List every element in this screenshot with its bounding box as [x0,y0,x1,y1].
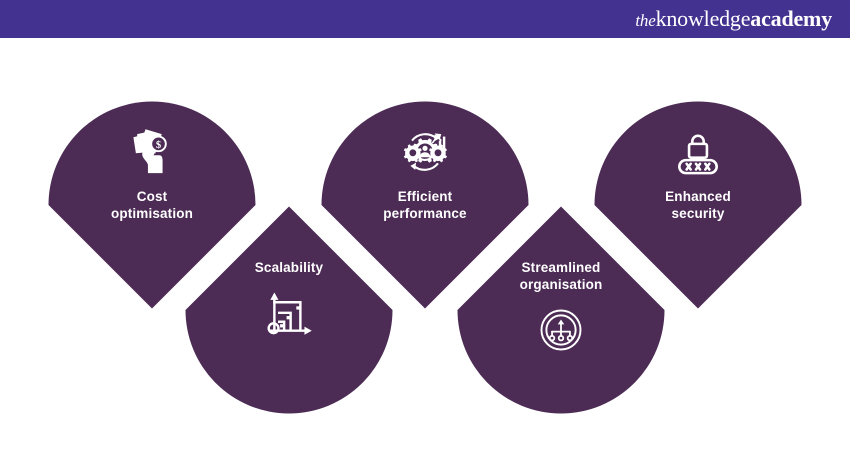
fan-item-enhanced-security[interactable]: Enhanced security [593,100,803,310]
header-bar: theknowledgeacademy [0,0,850,38]
benefits-diagram: $ Cost optimisation Scalability [0,38,850,450]
brand-logo-the: the [635,12,655,29]
brand-logo: theknowledgeacademy [635,8,832,30]
brand-logo-academy: academy [750,8,832,30]
fan-shape-down [593,100,803,310]
brand-logo-knowledge: knowledge [656,8,751,30]
